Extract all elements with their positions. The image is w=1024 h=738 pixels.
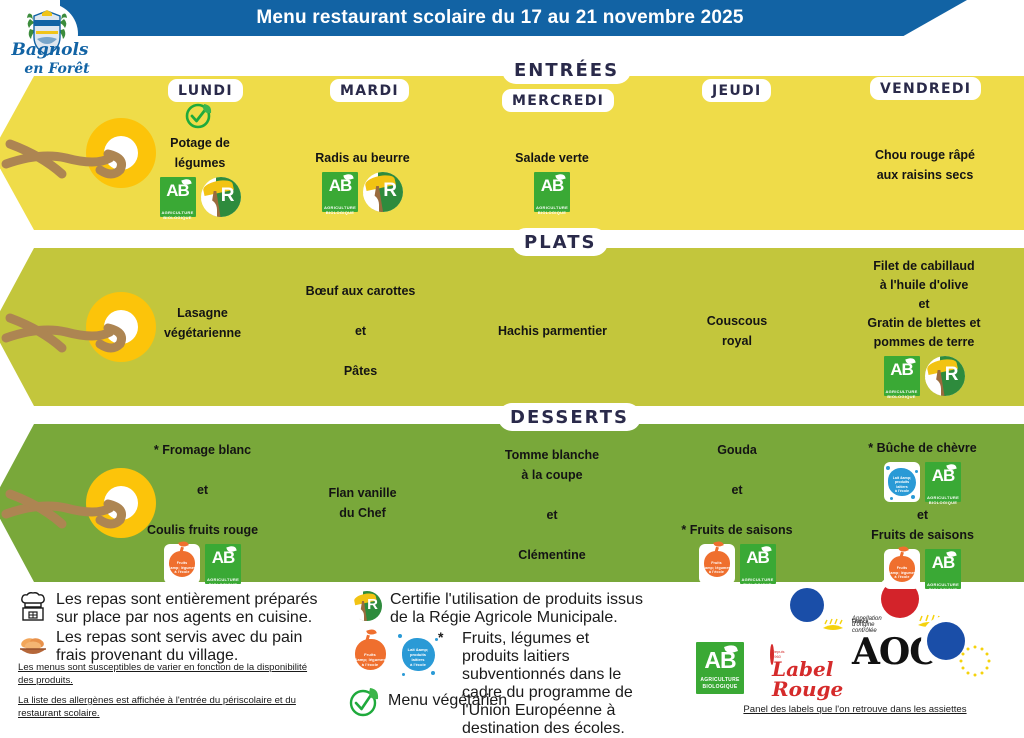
menu-cell-entree-mercredi: Salade verte AB AGRICULTURE BIOLOGIQUE — [492, 148, 612, 212]
regie-agricole-icon: R — [201, 177, 241, 217]
footer-note-variation: Les menus sont susceptibles de varier en… — [18, 662, 318, 687]
badge-group: Fruits &amp; légumes à l'école AB AGRICU… — [850, 549, 995, 589]
dish-line: et — [672, 480, 802, 500]
day-header-vendredi[interactable]: VENDREDI — [870, 77, 981, 100]
regie-agricole-icon: R — [363, 172, 403, 212]
badge-group: AB AGRICULTURE BIOLOGIQUE R — [145, 177, 255, 217]
tag-string-plats — [0, 282, 140, 372]
badge-group: Lait &amp; produits laitiers à l'école A… — [850, 462, 995, 502]
day-header-jeudi[interactable]: JEUDI — [702, 79, 771, 102]
footer-legend-regie: R Certifie l'utilisation de produits iss… — [352, 591, 652, 627]
dish-line: Tomme blanche — [492, 445, 612, 465]
dish-line: Lasagne — [145, 303, 260, 323]
dish-line: * Bûche de chèvre — [850, 438, 995, 458]
ab-organic-icon: AB AGRICULTURE BIOLOGIQUE — [205, 544, 241, 584]
footer-legend-text: Fruits, légumes et produits laitiers sub… — [448, 630, 648, 738]
chef-hat-icon — [18, 591, 48, 621]
dish-line: du Chef — [305, 503, 420, 523]
menu-cell-dessert-lundi: * Fromage blanc et Coulis fruits rouge F… — [140, 440, 265, 584]
menu-cell-plat-vendredi: Filet de cabillaud à l'huile d'olive et … — [850, 257, 998, 396]
dish-line: * Fromage blanc — [140, 440, 265, 460]
ab-organic-icon: AB AGRICULTURE BIOLOGIQUE — [160, 177, 196, 217]
quality-labels-caption: Panel des labels que l'on retrouve dans … — [690, 704, 1020, 715]
dish-line: Salade verte — [492, 148, 612, 168]
section-title-entrees: ENTRÉES — [502, 56, 631, 84]
page-title: Menu restaurant scolaire du 17 au 21 nov… — [60, 0, 940, 36]
dish-line: Radis au beurre — [300, 148, 425, 168]
badge-group: AB AGRICULTURE BIOLOGIQUE R — [850, 356, 998, 396]
menu-cell-plat-lundi: Lasagne végétarienne — [145, 303, 260, 343]
footer-note-bread: Les repas sont servis avec du pain frais… — [18, 629, 323, 665]
fruits-legumes-ecole-icon: Fruits &amp; légumes à l'école — [164, 544, 200, 584]
eu-program-asterisk: * — [438, 629, 443, 645]
ab-organic-icon: AB AGRICULTURE BIOLOGIQUE — [925, 549, 961, 589]
dish-line: Gratin de blettes et — [850, 314, 998, 333]
menu-cell-dessert-mardi: Flan vanille du Chef — [305, 483, 420, 523]
ab-organic-icon: AB AGRICULTURE BIOLOGIQUE — [322, 172, 358, 212]
dish-line: pommes de terre — [850, 333, 998, 352]
regie-agricole-icon: R — [352, 591, 382, 621]
menu-cell-entree-mardi: Radis au beurre AB AGRICULTURE BIOLOGIQU… — [300, 148, 425, 212]
menu-cell-dessert-vendredi: * Bûche de chèvre Lait &amp; produits la… — [850, 438, 995, 589]
footer-note-text: Les repas sont entièrement préparés sur … — [48, 591, 323, 627]
dish-line: Clémentine — [492, 545, 612, 565]
menu-cell-dessert-jeudi: Gouda et * Fruits de saisons Fruits &amp… — [672, 440, 802, 584]
dish-line: Flan vanille — [305, 483, 420, 503]
vegetarian-icon — [184, 100, 214, 130]
dish-line: végétarienne — [145, 323, 260, 343]
dish-line: Bœuf aux carottes — [298, 281, 423, 301]
dish-line: * Fruits de saisons — [672, 520, 802, 540]
tag-string-entrees — [0, 108, 140, 198]
menu-cell-plat-mardi: Bœuf aux carottes et Pâtes — [298, 281, 423, 381]
section-title-plats: PLATS — [512, 228, 608, 256]
dish-line: et — [850, 505, 995, 525]
page-footer: Les repas sont entièrement préparés sur … — [0, 582, 1024, 724]
dish-line: et — [140, 480, 265, 500]
footer-note-text: Les repas sont servis avec du pain frais… — [48, 629, 323, 665]
label-rouge-icon: Label Rouge Depuis 1960 — [770, 644, 774, 665]
footer-legend-eu-program: Fruits &amp; légumes à l'école Lait &amp… — [348, 630, 648, 738]
dish-line: Filet de cabillaud — [850, 257, 998, 276]
dish-line: Pâtes — [298, 361, 423, 381]
dish-line: Hachis parmentier — [485, 321, 620, 341]
badge-group: AB AGRICULTURE BIOLOGIQUE R — [300, 172, 425, 212]
fruits-legumes-ecole-icon: Fruits &amp; légumes à l'école — [884, 549, 920, 589]
ab-organic-icon: AB AGRICULTURE BIOLOGIQUE — [884, 356, 920, 396]
day-header-mercredi[interactable]: MERCREDI — [502, 89, 614, 112]
menu-cell-dessert-mercredi: Tomme blanche à la coupe et Clémentine — [492, 445, 612, 565]
ab-organic-icon: AB AGRICULTURE BIOLOGIQUE — [925, 462, 961, 502]
badge-group: Fruits &amp; légumes à l'école AB AGRICU… — [672, 544, 802, 584]
badge-group: AB AGRICULTURE BIOLOGIQUE — [492, 172, 612, 212]
menu-cell-plat-jeudi: Couscous royal — [682, 311, 792, 351]
menu-cell-entree-vendredi: Chou rouge râpé aux raisins secs — [855, 145, 995, 185]
regie-agricole-icon: R — [925, 356, 965, 396]
day-header-lundi[interactable]: LUNDI — [168, 79, 243, 102]
footer-legend-vegetarian: Menu végétarien — [348, 685, 598, 717]
quality-labels-panel: AB AGRICULTURE BIOLOGIQUE Label Rouge De… — [690, 586, 1020, 720]
dish-line: et — [850, 295, 998, 314]
fruits-legumes-ecole-icon: Fruits &amp; légumes à l'école — [348, 630, 392, 678]
dish-line: royal — [682, 331, 792, 351]
lait-produits-laitiers-ecole-icon: Lait &amp; produits laitiers à l'école — [884, 462, 920, 502]
dish-line: aux raisins secs — [855, 165, 995, 185]
menu-cell-entree-lundi: Potage de légumes AB AGRICULTURE BIOLOGI… — [145, 133, 255, 217]
menu-cell-plat-mercredi: Hachis parmentier — [485, 321, 620, 341]
day-header-mardi[interactable]: MARDI — [330, 79, 409, 102]
badge-group: Fruits &amp; légumes à l'école AB AGRICU… — [140, 544, 265, 584]
fruits-legumes-ecole-icon: Fruits &amp; légumes à l'école — [699, 544, 735, 584]
logo-line-1: Bagnols — [12, 40, 89, 60]
bread-basket-icon — [18, 636, 48, 658]
footer-note-allergens: La liste des allergènes est affichée à l… — [18, 695, 318, 720]
dish-line: légumes — [145, 153, 255, 173]
footer-legend-text: Certifie l'utilisation de produits issus… — [382, 591, 652, 627]
section-title-desserts: DESSERTS — [498, 403, 641, 431]
ab-organic-icon: AB AGRICULTURE BIOLOGIQUE — [740, 544, 776, 584]
dish-line: et — [298, 321, 423, 341]
dish-line: Potage de — [145, 133, 255, 153]
dish-line: Fruits de saisons — [850, 525, 995, 545]
ab-organic-icon: AB AGRICULTURE BIOLOGIQUE — [534, 172, 570, 212]
dish-line: et — [492, 505, 612, 525]
tag-string-desserts — [0, 458, 140, 548]
dish-line: à la coupe — [492, 465, 612, 485]
dish-line: Couscous — [682, 311, 792, 331]
dish-line: Chou rouge râpé — [855, 145, 995, 165]
dish-line: Coulis fruits rouge — [140, 520, 265, 540]
vegetarian-icon — [348, 685, 380, 717]
footer-legend-text: Menu végétarien — [380, 692, 507, 710]
ab-organic-icon: AB AGRICULTURE BIOLOGIQUE — [696, 642, 744, 694]
footer-note-prepared: Les repas sont entièrement préparés sur … — [18, 591, 323, 627]
lait-produits-laitiers-ecole-icon: Lait &amp; produits laitiers à l'école — [396, 630, 440, 678]
dish-line: à l'huile d'olive — [850, 276, 998, 295]
dish-line: Gouda — [672, 440, 802, 460]
